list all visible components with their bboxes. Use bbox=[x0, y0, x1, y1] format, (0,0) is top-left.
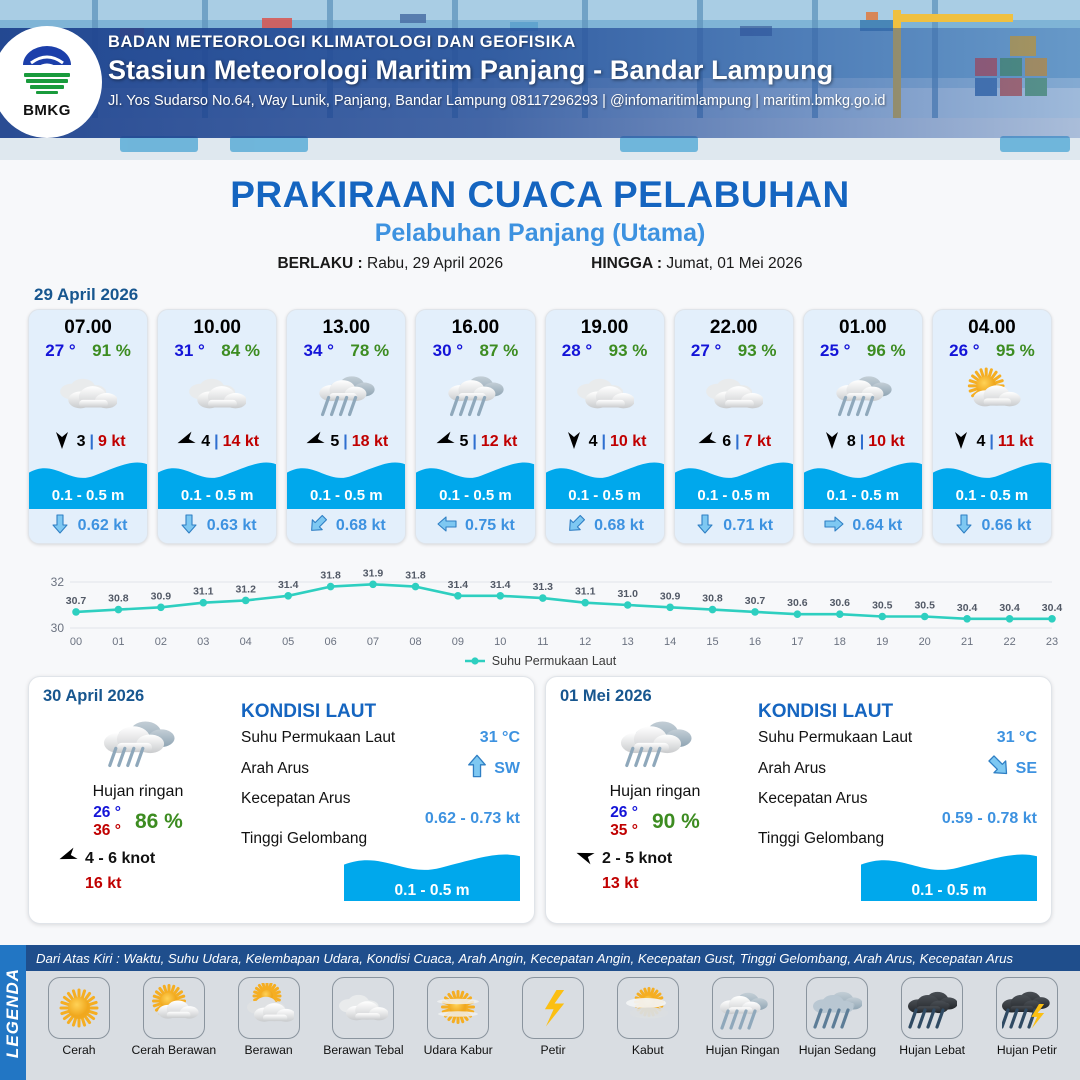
hourly-card: 19.00 28 ° 93 % bbox=[545, 309, 665, 544]
svg-text:30.8: 30.8 bbox=[108, 593, 129, 605]
wind-separator: | bbox=[472, 433, 476, 451]
daily-wind-direction-arrow-icon bbox=[57, 845, 79, 872]
legend-tab: LEGENDA bbox=[0, 945, 26, 1080]
wave-height-block: 0.1 - 0.5 m bbox=[287, 457, 405, 509]
svg-text:04: 04 bbox=[240, 636, 252, 648]
wave-height-value: 0.1 - 0.5 m bbox=[546, 487, 664, 504]
current-speed: 0.68 kt bbox=[594, 517, 644, 535]
svg-text:30.6: 30.6 bbox=[787, 597, 808, 609]
weather-icon-berawan bbox=[29, 363, 147, 425]
daily-forecast-card: 01 Mei 2026 Hujan ringan bbox=[545, 676, 1052, 924]
legend-item: Hujan Petir bbox=[982, 977, 1072, 1057]
daily-temp-min: 26 ° bbox=[610, 804, 638, 822]
svg-text:30.5: 30.5 bbox=[872, 600, 893, 612]
valid-until: HINGGA : Jumat, 01 Mei 2026 bbox=[591, 255, 802, 273]
daily-date: 01 Mei 2026 bbox=[560, 687, 652, 706]
wind-scale: 6 bbox=[722, 433, 731, 451]
svg-text:22: 22 bbox=[1003, 636, 1015, 648]
weather-icon-cerah-berawan bbox=[933, 363, 1051, 425]
wave-height-value: 0.1 - 0.5 m bbox=[933, 487, 1051, 504]
legend-icon-cerah bbox=[48, 977, 110, 1039]
hourly-temperature: 26 ° bbox=[949, 341, 979, 361]
wind-direction-arrow-icon bbox=[434, 429, 456, 456]
chart-legend-label: Suhu Permukaan Laut bbox=[492, 654, 616, 668]
svg-text:01: 01 bbox=[112, 636, 124, 648]
legend-icon-hujan-petir bbox=[996, 977, 1058, 1039]
legend-item-label: Berawan Tebal bbox=[323, 1043, 403, 1057]
wave-height-block: 0.1 - 0.5 m bbox=[546, 457, 664, 509]
svg-text:32: 32 bbox=[51, 575, 65, 589]
hourly-temperature: 27 ° bbox=[45, 341, 75, 361]
legend-item-label: Hujan Sedang bbox=[799, 1043, 876, 1057]
weather-icon-hujan-ringan bbox=[287, 363, 405, 425]
legend-item-label: Hujan Ringan bbox=[706, 1043, 780, 1057]
wind-separator: | bbox=[343, 433, 347, 451]
current-speed: 0.66 kt bbox=[982, 517, 1032, 535]
wind-scale: 8 bbox=[847, 433, 856, 451]
hourly-temperature: 28 ° bbox=[562, 341, 592, 361]
hourly-humidity: 84 % bbox=[221, 341, 260, 361]
weather-icon-hujan-ringan bbox=[416, 363, 534, 425]
daily-current-direction-arrow-icon bbox=[986, 753, 1012, 784]
hourly-card: 10.00 31 ° 84 % bbox=[157, 309, 277, 544]
daily-wave-block: 0.1 - 0.5 m bbox=[861, 849, 1037, 907]
hourly-card: 22.00 27 ° 93 % bbox=[674, 309, 794, 544]
hourly-humidity: 93 % bbox=[609, 341, 648, 361]
svg-text:30: 30 bbox=[51, 621, 65, 635]
hourly-humidity: 93 % bbox=[738, 341, 777, 361]
hourly-card: 04.00 26 ° 95 % bbox=[932, 309, 1052, 544]
wind-separator: | bbox=[860, 433, 864, 451]
legend-note: Dari Atas Kiri : Waktu, Suhu Udara, Kele… bbox=[26, 945, 1080, 971]
daily-wind-direction-arrow-icon bbox=[574, 845, 596, 872]
bmkg-logo-text: BMKG bbox=[23, 102, 71, 119]
daily-gust: 16 kt bbox=[43, 875, 121, 893]
hourly-card: 13.00 34 ° 78 % bbox=[286, 309, 406, 544]
wave-height-block: 0.1 - 0.5 m bbox=[29, 457, 147, 509]
svg-text:31.4: 31.4 bbox=[278, 579, 299, 591]
wave-height-value: 0.1 - 0.5 m bbox=[287, 487, 405, 504]
svg-text:10: 10 bbox=[494, 636, 506, 648]
legend-item-label: Kabut bbox=[632, 1043, 664, 1057]
daily-forecast-row: 30 April 2026 Hujan ring bbox=[0, 670, 1080, 924]
wave-height-block: 0.1 - 0.5 m bbox=[675, 457, 793, 509]
weather-icon-hujan-ringan bbox=[101, 707, 175, 781]
svg-text:13: 13 bbox=[622, 636, 634, 648]
svg-text:14: 14 bbox=[664, 636, 676, 648]
wind-scale: 5 bbox=[330, 433, 339, 451]
legend-item: Petir bbox=[508, 977, 598, 1057]
current-direction-arrow-icon bbox=[694, 513, 716, 540]
current-speed: 0.71 kt bbox=[723, 517, 773, 535]
valid-from: BERLAKU : Rabu, 29 April 2026 bbox=[277, 255, 503, 273]
svg-text:31.1: 31.1 bbox=[193, 586, 214, 598]
svg-text:31.4: 31.4 bbox=[448, 579, 469, 591]
daily-condition: Hujan ringan bbox=[610, 783, 701, 801]
svg-text:02: 02 bbox=[155, 636, 167, 648]
svg-text:23: 23 bbox=[1046, 636, 1058, 648]
legend-icon-udara-kabur bbox=[427, 977, 489, 1039]
wave-height-value: 0.1 - 0.5 m bbox=[29, 487, 147, 504]
svg-text:31.2: 31.2 bbox=[235, 583, 256, 595]
daily-wind-range: 4 - 6 knot bbox=[85, 850, 155, 868]
daily-temp-max: 36 ° bbox=[93, 822, 121, 840]
svg-text:31.1: 31.1 bbox=[575, 586, 596, 598]
legend-item-label: Udara Kabur bbox=[424, 1043, 493, 1057]
svg-text:30.7: 30.7 bbox=[66, 595, 87, 607]
sea-condition-title: KONDISI LAUT bbox=[758, 701, 1037, 723]
wind-scale: 3 bbox=[77, 433, 86, 451]
legend-section: LEGENDA Dari Atas Kiri : Waktu, Suhu Uda… bbox=[0, 945, 1080, 1080]
legend-icon-cerah-berawan bbox=[143, 977, 205, 1039]
hourly-temperature: 27 ° bbox=[691, 341, 721, 361]
wind-gust: 7 kt bbox=[744, 433, 772, 451]
wind-direction-arrow-icon bbox=[51, 429, 73, 456]
legend-item: Berawan Tebal bbox=[318, 977, 408, 1057]
agency-name: BADAN METEOROLOGI KLIMATOLOGI DAN GEOFIS… bbox=[108, 33, 1076, 52]
legend-item: Hujan Lebat bbox=[887, 977, 977, 1057]
svg-text:30.8: 30.8 bbox=[702, 593, 723, 605]
hourly-card: 01.00 25 ° 96 % bbox=[803, 309, 923, 544]
current-direction-label: Arah Arus bbox=[758, 760, 826, 778]
wind-separator: | bbox=[602, 433, 606, 451]
svg-text:30.5: 30.5 bbox=[914, 600, 935, 612]
hourly-time: 16.00 bbox=[416, 310, 534, 339]
hourly-time: 01.00 bbox=[804, 310, 922, 339]
wind-scale: 5 bbox=[460, 433, 469, 451]
valid-from-label: BERLAKU : bbox=[277, 255, 362, 272]
wave-height-value: 0.1 - 0.5 m bbox=[804, 487, 922, 504]
wave-height-value: 0.1 - 0.5 m bbox=[675, 487, 793, 504]
svg-text:31.4: 31.4 bbox=[490, 579, 511, 591]
page-subtitle: Pelabuhan Panjang (Utama) bbox=[0, 219, 1080, 248]
daily-gust: 13 kt bbox=[560, 875, 638, 893]
current-speed: 0.75 kt bbox=[465, 517, 515, 535]
daily-condition: Hujan ringan bbox=[93, 783, 184, 801]
legend-item-label: Cerah bbox=[62, 1043, 95, 1057]
valid-until-label: HINGGA : bbox=[591, 255, 662, 272]
current-direction-value: SW bbox=[494, 760, 520, 778]
hourly-card: 16.00 30 ° 87 % bbox=[415, 309, 535, 544]
wind-direction-arrow-icon bbox=[175, 429, 197, 456]
chart-legend-swatch-icon bbox=[464, 656, 486, 666]
sea-condition-title: KONDISI LAUT bbox=[241, 701, 520, 723]
svg-text:30.4: 30.4 bbox=[1042, 602, 1063, 614]
daily-wave-value: 0.1 - 0.5 m bbox=[861, 882, 1037, 900]
legend-icon-kabut bbox=[617, 977, 679, 1039]
legend-icon-hujan-lebat bbox=[901, 977, 963, 1039]
daily-wave-block: 0.1 - 0.5 m bbox=[344, 849, 520, 907]
svg-text:20: 20 bbox=[919, 636, 931, 648]
wind-direction-arrow-icon bbox=[304, 429, 326, 456]
legend-icon-hujan-ringan bbox=[712, 977, 774, 1039]
current-direction-arrow-icon bbox=[823, 513, 845, 540]
current-speed: 0.63 kt bbox=[207, 517, 257, 535]
sst-label: Suhu Permukaan Laut bbox=[241, 729, 395, 747]
current-direction-value: SE bbox=[1016, 760, 1037, 778]
current-speed: 0.62 kt bbox=[78, 517, 128, 535]
current-direction-arrow-icon bbox=[436, 513, 458, 540]
hourly-humidity: 96 % bbox=[867, 341, 906, 361]
svg-text:07: 07 bbox=[367, 636, 379, 648]
wave-height-block: 0.1 - 0.5 m bbox=[158, 457, 276, 509]
wind-direction-arrow-icon bbox=[821, 429, 843, 456]
legend-item: Hujan Ringan bbox=[698, 977, 788, 1057]
wind-separator: | bbox=[989, 433, 993, 451]
legend-item: Berawan bbox=[224, 977, 314, 1057]
svg-text:16: 16 bbox=[749, 636, 761, 648]
wind-gust: 12 kt bbox=[481, 433, 517, 451]
hourly-date-label: 29 April 2026 bbox=[34, 285, 1080, 305]
hourly-humidity: 95 % bbox=[996, 341, 1035, 361]
daily-wave-value: 0.1 - 0.5 m bbox=[344, 882, 520, 900]
hourly-time: 10.00 bbox=[158, 310, 276, 339]
current-speed-value: 0.59 - 0.78 kt bbox=[758, 810, 1037, 828]
hourly-time: 22.00 bbox=[675, 310, 793, 339]
hourly-humidity: 91 % bbox=[92, 341, 131, 361]
svg-text:31.0: 31.0 bbox=[617, 588, 638, 600]
legend-item: Udara Kabur bbox=[413, 977, 503, 1057]
svg-text:30.9: 30.9 bbox=[660, 590, 681, 602]
current-speed-label: Kecepatan Arus bbox=[758, 790, 1037, 808]
wave-height-value: 0.1 - 0.5 m bbox=[416, 487, 534, 504]
wind-separator: | bbox=[89, 433, 93, 451]
wind-direction-arrow-icon bbox=[563, 429, 585, 456]
daily-date: 30 April 2026 bbox=[43, 687, 144, 706]
wave-height-value: 0.1 - 0.5 m bbox=[158, 487, 276, 504]
hourly-temperature: 31 ° bbox=[174, 341, 204, 361]
svg-text:30.9: 30.9 bbox=[151, 590, 172, 602]
sst-line-chart: 303230.70030.80130.90231.10331.20431.405… bbox=[30, 560, 1066, 652]
current-direction-arrow-icon bbox=[49, 513, 71, 540]
svg-text:03: 03 bbox=[197, 636, 209, 648]
valid-from-value: Rabu, 29 April 2026 bbox=[367, 255, 503, 272]
wind-scale: 4 bbox=[589, 433, 598, 451]
wind-gust: 9 kt bbox=[98, 433, 126, 451]
hourly-time: 13.00 bbox=[287, 310, 405, 339]
wind-gust: 11 kt bbox=[998, 433, 1034, 451]
current-direction-arrow-icon bbox=[307, 513, 329, 540]
svg-text:30.4: 30.4 bbox=[957, 602, 978, 614]
svg-text:19: 19 bbox=[876, 636, 888, 648]
svg-text:05: 05 bbox=[282, 636, 294, 648]
svg-text:11: 11 bbox=[537, 636, 548, 648]
current-speed-label: Kecepatan Arus bbox=[241, 790, 520, 808]
weather-icon-hujan-ringan bbox=[618, 707, 692, 781]
wind-separator: | bbox=[214, 433, 218, 451]
svg-text:00: 00 bbox=[70, 636, 82, 648]
hourly-time: 04.00 bbox=[933, 310, 1051, 339]
current-speed-value: 0.62 - 0.73 kt bbox=[241, 810, 520, 828]
sst-value: 31 °C bbox=[480, 729, 520, 747]
sst-chart-card: 303230.70030.80130.90231.10331.20431.405… bbox=[22, 554, 1058, 670]
sst-value: 31 °C bbox=[997, 729, 1037, 747]
daily-humidity: 86 % bbox=[135, 810, 183, 834]
weather-icon-berawan bbox=[675, 363, 793, 425]
daily-wind-range: 2 - 5 knot bbox=[602, 850, 672, 868]
wind-gust: 10 kt bbox=[610, 433, 646, 451]
wind-gust: 10 kt bbox=[868, 433, 904, 451]
wind-gust: 18 kt bbox=[352, 433, 388, 451]
hourly-humidity: 78 % bbox=[350, 341, 389, 361]
wind-direction-arrow-icon bbox=[696, 429, 718, 456]
page-title: PRAKIRAAN CUACA PELABUHAN bbox=[0, 174, 1080, 216]
hourly-time: 19.00 bbox=[546, 310, 664, 339]
sst-label: Suhu Permukaan Laut bbox=[758, 729, 912, 747]
current-direction-arrow-icon bbox=[953, 513, 975, 540]
svg-text:21: 21 bbox=[961, 636, 973, 648]
legend-item-label: Berawan bbox=[245, 1043, 293, 1057]
title-block: PRAKIRAAN CUACA PELABUHAN Pelabuhan Panj… bbox=[0, 160, 1080, 273]
svg-text:17: 17 bbox=[791, 636, 803, 648]
daily-temp-min: 26 ° bbox=[93, 804, 121, 822]
page-header: BMKG BADAN METEOROLOGI KLIMATOLOGI DAN G… bbox=[0, 0, 1080, 160]
svg-text:30.7: 30.7 bbox=[745, 595, 766, 607]
legend-item-label: Hujan Petir bbox=[997, 1043, 1057, 1057]
legend-icon-petir bbox=[522, 977, 584, 1039]
legend-item: Kabut bbox=[603, 977, 693, 1057]
svg-text:31.8: 31.8 bbox=[320, 570, 341, 582]
legend-item: Hujan Sedang bbox=[792, 977, 882, 1057]
svg-text:31.8: 31.8 bbox=[405, 570, 426, 582]
current-speed: 0.68 kt bbox=[336, 517, 386, 535]
current-speed: 0.64 kt bbox=[852, 517, 902, 535]
svg-text:06: 06 bbox=[324, 636, 336, 648]
legend-item-label: Petir bbox=[540, 1043, 565, 1057]
hourly-card: 07.00 27 ° 91 % bbox=[28, 309, 148, 544]
current-direction-label: Arah Arus bbox=[241, 760, 309, 778]
svg-text:18: 18 bbox=[834, 636, 846, 648]
validity-row: BERLAKU : Rabu, 29 April 2026 HINGGA : J… bbox=[0, 255, 1080, 273]
wind-direction-arrow-icon bbox=[950, 429, 972, 456]
hourly-forecast-row: 07.00 27 ° 91 % bbox=[0, 309, 1080, 544]
legend-icon-berawan-sun bbox=[238, 977, 300, 1039]
svg-text:12: 12 bbox=[579, 636, 591, 648]
wind-scale: 4 bbox=[976, 433, 985, 451]
wave-height-label: Tinggi Gelombang bbox=[241, 830, 520, 848]
wave-height-block: 0.1 - 0.5 m bbox=[804, 457, 922, 509]
bmkg-logo-mark bbox=[17, 45, 77, 101]
wind-gust: 14 kt bbox=[223, 433, 259, 451]
wind-separator: | bbox=[735, 433, 739, 451]
daily-humidity: 90 % bbox=[652, 810, 700, 834]
legend-icon-hujan-sedang bbox=[806, 977, 868, 1039]
daily-temp-max: 35 ° bbox=[610, 822, 638, 840]
valid-until-value: Jumat, 01 Mei 2026 bbox=[666, 255, 802, 272]
svg-text:31.9: 31.9 bbox=[363, 567, 384, 579]
svg-text:30.6: 30.6 bbox=[830, 597, 851, 609]
daily-forecast-card: 30 April 2026 Hujan ring bbox=[28, 676, 535, 924]
legend-item-label: Hujan Lebat bbox=[899, 1043, 965, 1057]
current-direction-arrow-icon bbox=[565, 513, 587, 540]
hourly-temperature: 25 ° bbox=[820, 341, 850, 361]
station-name: Stasiun Meteorologi Maritim Panjang - Ba… bbox=[108, 55, 1076, 86]
wave-height-label: Tinggi Gelombang bbox=[758, 830, 1037, 848]
svg-text:08: 08 bbox=[409, 636, 421, 648]
wind-scale: 4 bbox=[201, 433, 210, 451]
svg-text:30.4: 30.4 bbox=[999, 602, 1020, 614]
station-contact: Jl. Yos Sudarso No.64, Way Lunik, Panjan… bbox=[108, 93, 1076, 109]
current-direction-arrow-icon bbox=[178, 513, 200, 540]
hourly-time: 07.00 bbox=[29, 310, 147, 339]
hourly-temperature: 34 ° bbox=[303, 341, 333, 361]
weather-icon-berawan bbox=[158, 363, 276, 425]
weather-icon-berawan bbox=[546, 363, 664, 425]
chart-legend: Suhu Permukaan Laut bbox=[30, 654, 1050, 668]
svg-text:09: 09 bbox=[452, 636, 464, 648]
svg-text:15: 15 bbox=[706, 636, 718, 648]
hourly-temperature: 30 ° bbox=[433, 341, 463, 361]
legend-item-label: Cerah Berawan bbox=[131, 1043, 216, 1057]
wave-height-block: 0.1 - 0.5 m bbox=[416, 457, 534, 509]
legend-items-row: Cerah Cerah Berawan bbox=[26, 971, 1080, 1080]
legend-icon-berawan bbox=[332, 977, 394, 1039]
wave-height-block: 0.1 - 0.5 m bbox=[933, 457, 1051, 509]
daily-current-direction-arrow-icon bbox=[464, 753, 490, 784]
weather-icon-hujan-ringan bbox=[804, 363, 922, 425]
hourly-humidity: 87 % bbox=[480, 341, 519, 361]
svg-text:31.3: 31.3 bbox=[533, 581, 554, 593]
legend-item: Cerah bbox=[34, 977, 124, 1057]
legend-tab-label: LEGENDA bbox=[3, 967, 23, 1057]
legend-item: Cerah Berawan bbox=[129, 977, 219, 1057]
